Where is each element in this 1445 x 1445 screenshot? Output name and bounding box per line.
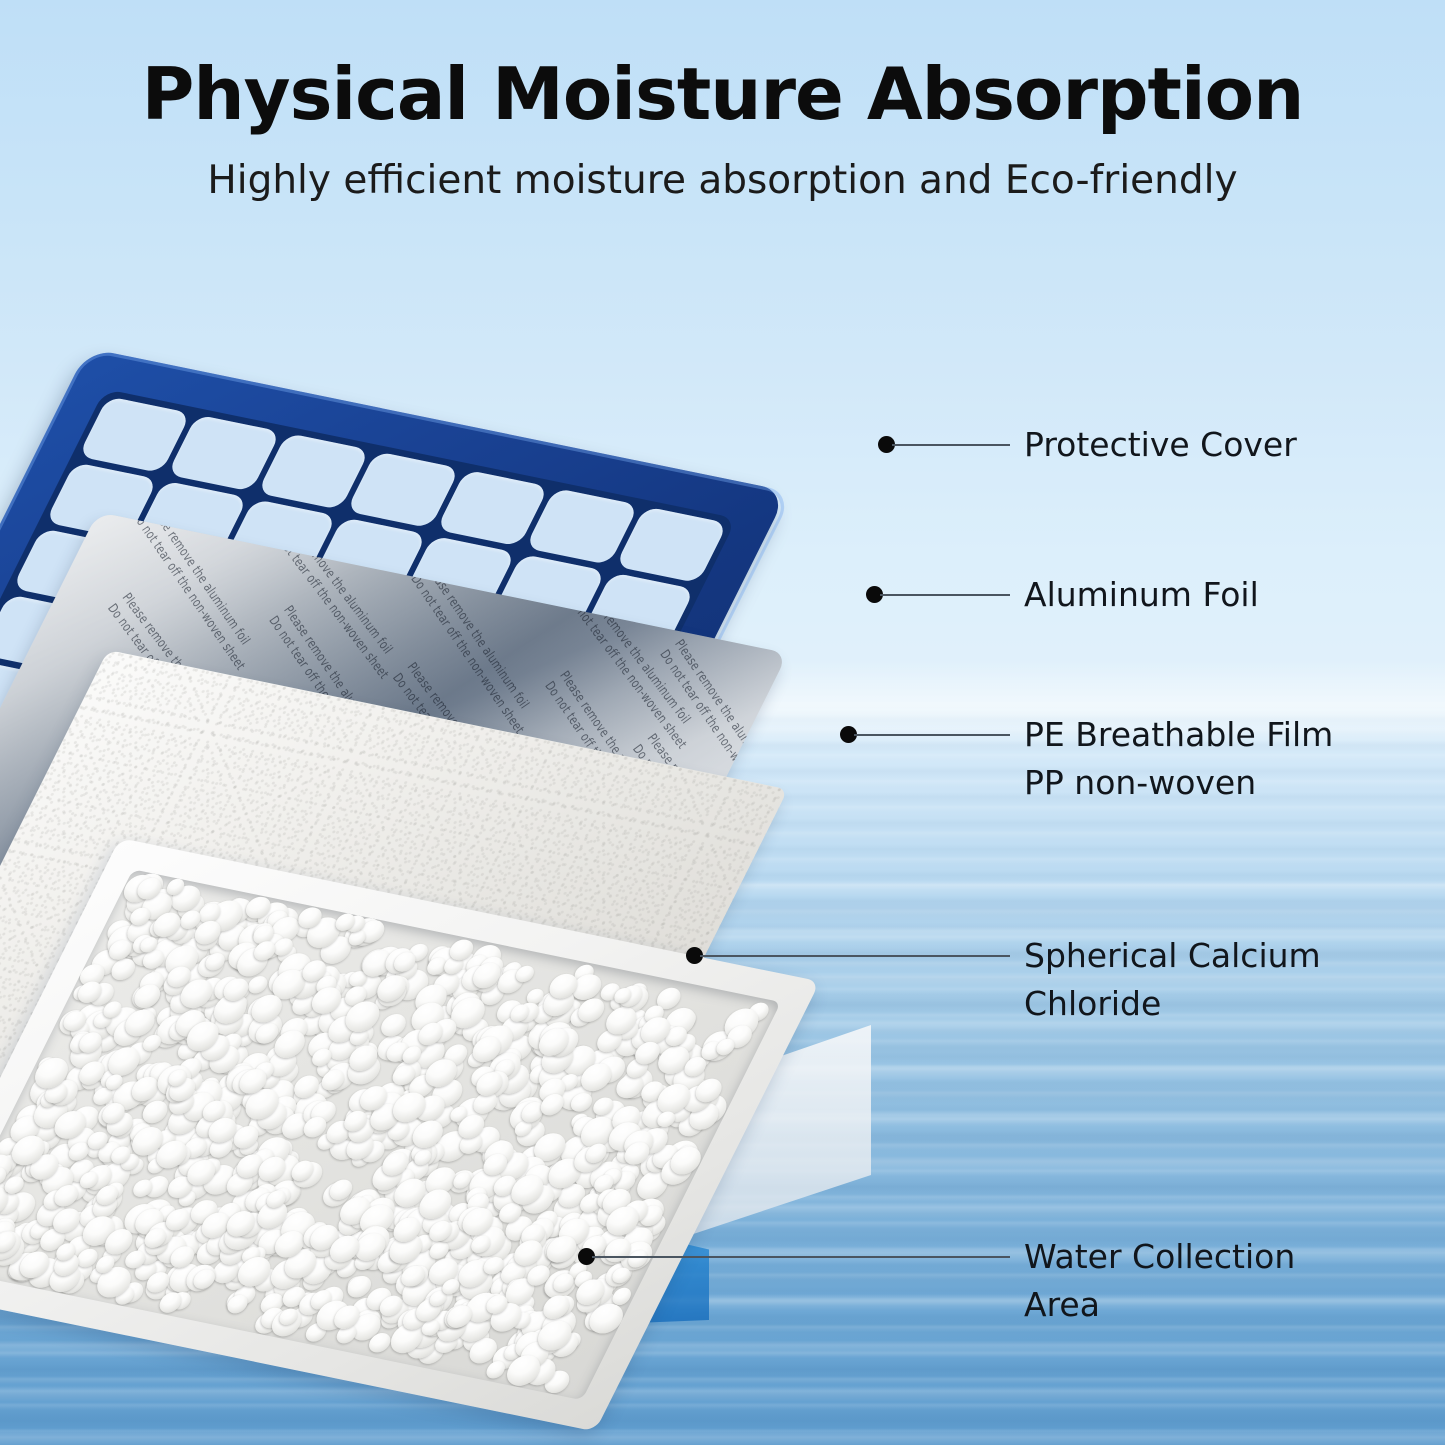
callout-line (892, 444, 1010, 446)
callout-line (880, 594, 1010, 596)
infographic-canvas: Physical Moisture Absorption Highly effi… (0, 0, 1445, 1445)
callout-label: PE Breathable Film (1024, 714, 1333, 756)
page-title: Physical Moisture Absorption (0, 52, 1445, 136)
callout-label-line2: Area (1024, 1284, 1100, 1326)
callout-label-line2: PP non-woven (1024, 762, 1256, 804)
callout-line (700, 955, 1010, 957)
callout-label-line2: Chloride (1024, 983, 1161, 1025)
callout-line (592, 1256, 1010, 1258)
callout-label: Aluminum Foil (1024, 574, 1259, 616)
calcium-chloride-bead (483, 1360, 508, 1380)
callout-label: Spherical Calcium (1024, 935, 1321, 977)
page-subtitle: Highly efficient moisture absorption and… (0, 158, 1445, 203)
callout-label: Protective Cover (1024, 424, 1297, 466)
callout-line (854, 734, 1010, 736)
callout-label: Water Collection (1024, 1236, 1295, 1278)
pe-breathable-film-part (108, 650, 918, 850)
absorber-tub-part: WISE Choice Fragrance Free MOISTURE ABSO… (120, 838, 920, 1418)
